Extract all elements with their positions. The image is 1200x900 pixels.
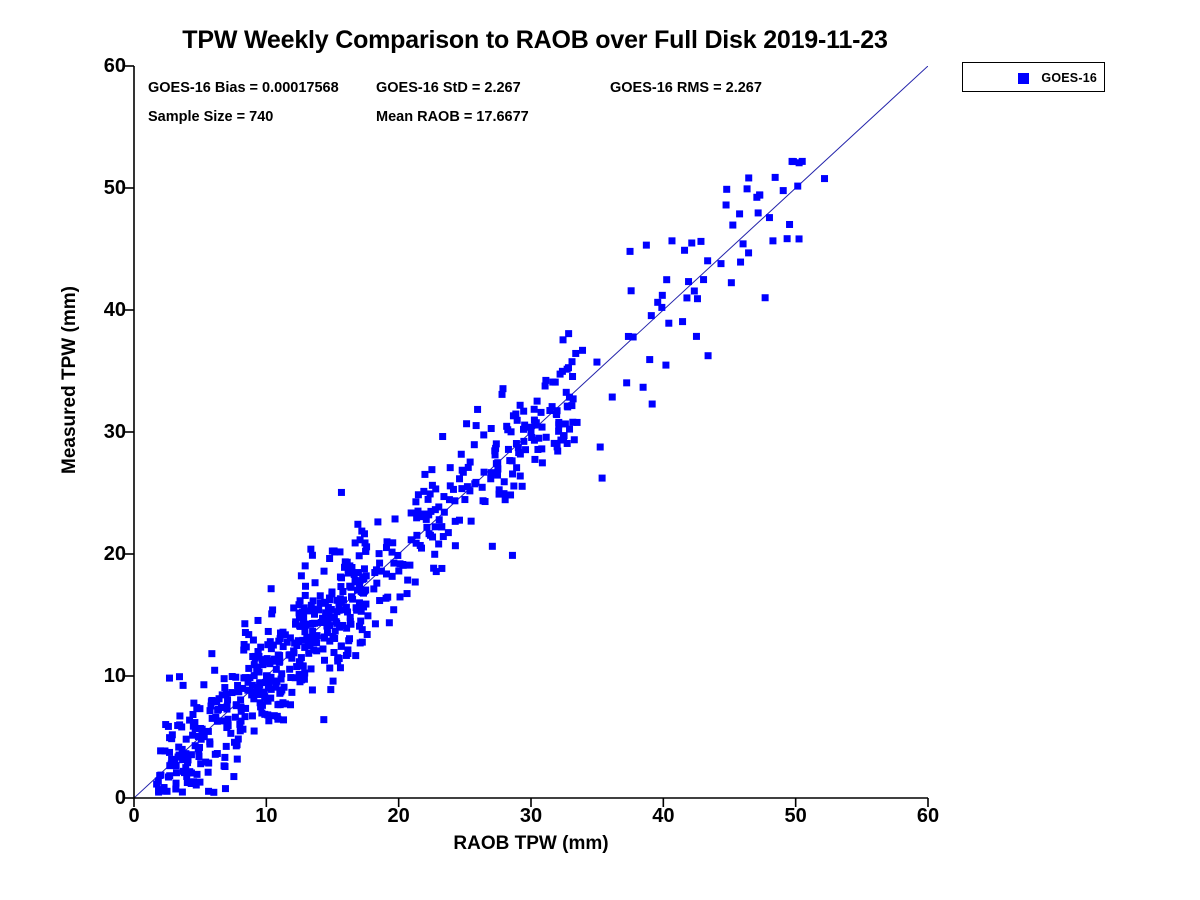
data-point-marker (466, 487, 473, 494)
data-point-marker (539, 459, 546, 466)
data-point-marker (257, 703, 264, 710)
data-point-marker (481, 469, 488, 476)
data-point-marker (321, 617, 328, 624)
data-point-marker (179, 756, 186, 763)
data-point-marker (221, 675, 228, 682)
data-point-marker (679, 318, 686, 325)
data-point-marker (277, 635, 284, 642)
data-point-marker (205, 769, 212, 776)
data-point-marker (179, 789, 186, 796)
data-point-marker (517, 473, 524, 480)
data-point-marker (166, 734, 173, 741)
data-point-marker (346, 635, 353, 642)
data-point-marker (212, 751, 219, 758)
data-point-marker (271, 656, 278, 663)
data-point-marker (796, 235, 803, 242)
data-point-marker (222, 785, 229, 792)
data-point-marker (563, 389, 570, 396)
chart-legend[interactable]: GOES-16 (962, 62, 1105, 92)
data-point-marker (321, 568, 328, 575)
data-point-marker (373, 580, 380, 587)
data-point-marker (534, 398, 541, 405)
data-point-marker (452, 518, 459, 525)
data-point-marker (480, 431, 487, 438)
data-point-marker (412, 579, 419, 586)
data-point-marker (255, 617, 262, 624)
data-point-marker (564, 403, 571, 410)
data-point-marker (423, 524, 430, 531)
data-point-marker (197, 760, 204, 767)
data-point-marker (705, 352, 712, 359)
data-point-marker (421, 471, 428, 478)
data-point-marker (392, 515, 399, 522)
data-point-marker (794, 183, 801, 190)
data-point-marker (206, 741, 213, 748)
x-tick-label: 50 (766, 806, 826, 826)
data-point-marker (597, 444, 604, 451)
data-point-marker (200, 681, 207, 688)
data-point-marker (522, 446, 529, 453)
data-point-marker (474, 406, 481, 413)
data-point-marker (649, 401, 656, 408)
data-point-marker (510, 483, 517, 490)
data-point-marker (360, 575, 367, 582)
data-point-marker (784, 235, 791, 242)
chart-title: TPW Weekly Comparison to RAOB over Full … (0, 26, 1070, 55)
data-point-marker (190, 723, 197, 730)
data-point-marker (683, 294, 690, 301)
data-point-marker (520, 408, 527, 415)
x-axis-tick-labels: 0102030405060 (134, 806, 928, 836)
data-point-marker (330, 649, 337, 656)
data-point-marker (330, 678, 337, 685)
y-tick-label: 20 (86, 544, 126, 564)
data-point-marker (396, 560, 403, 567)
data-point-marker (190, 700, 197, 707)
data-point-marker (789, 158, 796, 165)
data-point-marker (717, 260, 724, 267)
data-point-marker (157, 772, 164, 779)
x-tick-label: 0 (104, 806, 164, 826)
data-point-marker (376, 597, 383, 604)
data-point-marker (211, 667, 218, 674)
data-point-marker (501, 478, 508, 485)
data-point-marker (623, 379, 630, 386)
data-point-marker (404, 590, 411, 597)
data-point-marker (534, 446, 541, 453)
data-point-marker (745, 249, 752, 256)
data-point-marker (256, 679, 263, 686)
data-point-marker (538, 409, 545, 416)
data-point-marker (493, 460, 500, 467)
data-point-marker (527, 428, 534, 435)
data-point-marker (415, 508, 422, 515)
data-point-marker (539, 424, 546, 431)
data-point-marker (456, 475, 463, 482)
data-point-marker (195, 753, 202, 760)
data-point-marker (218, 717, 225, 724)
data-point-marker (420, 488, 427, 495)
data-point-marker (356, 623, 363, 630)
data-point-marker (435, 503, 442, 510)
data-point-marker (168, 761, 175, 768)
data-point-marker (287, 674, 294, 681)
data-point-marker (327, 614, 334, 621)
mean-raob-stat-label: Mean RAOB = 17.6677 (376, 109, 529, 125)
data-point-marker (327, 686, 334, 693)
std-stat-label: GOES-16 StD = 2.267 (376, 80, 521, 96)
data-point-marker (697, 238, 704, 245)
data-point-marker (293, 642, 300, 649)
data-point-marker (310, 597, 317, 604)
data-point-marker (223, 706, 230, 713)
data-point-marker (479, 484, 486, 491)
data-point-marker (468, 518, 475, 525)
data-point-marker (560, 336, 567, 343)
data-point-marker (609, 394, 616, 401)
data-point-marker (579, 347, 586, 354)
data-point-marker (555, 421, 562, 428)
data-point-marker (356, 552, 363, 559)
data-point-marker (265, 684, 272, 691)
data-point-marker (221, 762, 228, 769)
data-point-marker (280, 629, 287, 636)
data-point-marker (693, 333, 700, 340)
data-point-marker (348, 593, 355, 600)
data-point-marker (740, 240, 747, 247)
data-point-marker (557, 437, 564, 444)
data-point-marker (472, 479, 479, 486)
data-point-marker (821, 175, 828, 182)
data-point-marker (241, 620, 248, 627)
y-tick-label: 60 (86, 56, 126, 76)
x-tick-label: 20 (369, 806, 429, 826)
data-point-marker (737, 259, 744, 266)
data-point-marker (245, 631, 252, 638)
data-point-marker (332, 628, 339, 635)
data-point-marker (328, 588, 335, 595)
data-point-marker (691, 287, 698, 294)
data-point-marker (239, 726, 246, 733)
data-point-marker (384, 594, 391, 601)
scatter-plot-svg (134, 66, 928, 798)
data-point-marker (309, 552, 316, 559)
data-point-marker (319, 645, 326, 652)
data-point-marker (234, 682, 241, 689)
data-point-marker (362, 539, 369, 546)
data-point-marker (662, 362, 669, 369)
data-point-marker (520, 438, 527, 445)
data-point-marker (192, 742, 199, 749)
data-point-marker (352, 578, 359, 585)
data-point-marker (599, 475, 606, 482)
x-tick-label: 30 (501, 806, 561, 826)
data-point-marker (428, 466, 435, 473)
data-point-marker (205, 760, 212, 767)
data-point-marker (286, 666, 293, 673)
data-point-marker (208, 697, 215, 704)
data-point-marker (166, 675, 173, 682)
data-point-marker (488, 469, 495, 476)
data-point-marker (297, 597, 304, 604)
data-point-marker (314, 632, 321, 639)
data-point-marker (176, 712, 183, 719)
data-point-marker (259, 656, 266, 663)
data-point-marker (233, 702, 240, 709)
data-point-marker (488, 425, 495, 432)
data-point-marker (514, 417, 521, 424)
data-point-marker (493, 440, 500, 447)
data-point-marker (574, 419, 581, 426)
data-point-marker (648, 312, 655, 319)
x-tick-label: 40 (633, 806, 693, 826)
data-point-marker (627, 248, 634, 255)
data-point-marker (436, 516, 443, 523)
data-point-marker (208, 650, 215, 657)
data-point-marker (265, 628, 272, 635)
data-point-marker (306, 638, 313, 645)
data-point-marker (176, 673, 183, 680)
x-axis-title: RAOB TPW (mm) (134, 833, 928, 855)
data-point-marker (333, 620, 340, 627)
data-point-marker (509, 470, 516, 477)
data-point-marker (256, 669, 263, 676)
data-point-marker (278, 676, 285, 683)
data-point-marker (315, 606, 322, 613)
data-point-marker (406, 562, 413, 569)
data-point-marker (557, 371, 564, 378)
data-point-marker (173, 780, 180, 787)
data-point-marker (240, 647, 247, 654)
data-point-marker (221, 684, 228, 691)
data-point-marker (298, 676, 305, 683)
data-point-marker (344, 559, 351, 566)
data-point-marker (499, 385, 506, 392)
data-point-marker (395, 568, 402, 575)
data-point-marker (646, 356, 653, 363)
data-point-marker (515, 449, 522, 456)
data-point-marker (331, 548, 338, 555)
data-point-marker (301, 670, 308, 677)
y-tick-label: 10 (86, 666, 126, 686)
data-point-marker (180, 682, 187, 689)
data-point-marker (446, 496, 453, 503)
data-point-marker (554, 407, 561, 414)
data-point-marker (343, 625, 350, 632)
data-point-marker (531, 456, 538, 463)
data-point-marker (252, 655, 259, 662)
data-point-marker (358, 608, 365, 615)
data-point-marker (223, 724, 230, 731)
data-point-marker (438, 523, 445, 530)
data-point-marker (361, 530, 368, 537)
data-point-marker (296, 622, 303, 629)
data-point-marker (688, 239, 695, 246)
data-point-marker (551, 440, 558, 447)
data-point-marker (343, 604, 350, 611)
data-point-marker (723, 201, 730, 208)
y-tick-label: 50 (86, 178, 126, 198)
data-point-marker (458, 485, 465, 492)
data-point-marker (157, 788, 164, 795)
data-point-marker (630, 333, 637, 340)
data-point-marker (383, 544, 390, 551)
data-point-marker (157, 747, 164, 754)
data-point-marker (489, 543, 496, 550)
data-point-marker (328, 606, 335, 613)
data-point-marker (234, 756, 241, 763)
data-point-marker (762, 294, 769, 301)
data-point-marker (338, 643, 345, 650)
data-point-marker (337, 583, 344, 590)
data-point-marker (196, 705, 203, 712)
data-point-marker (571, 436, 578, 443)
data-point-marker (287, 634, 294, 641)
data-point-marker (244, 687, 251, 694)
data-point-marker (308, 665, 315, 672)
data-point-marker (431, 551, 438, 558)
data-point-marker (772, 174, 779, 181)
data-point-marker (251, 661, 258, 668)
data-point-marker (554, 448, 561, 455)
data-point-marker (628, 287, 635, 294)
data-point-marker (312, 579, 319, 586)
data-point-marker (700, 276, 707, 283)
data-point-marker (452, 542, 459, 549)
data-point-marker (250, 695, 257, 702)
data-point-marker (311, 620, 318, 627)
data-point-marker (427, 508, 434, 515)
data-point-marker (362, 548, 369, 555)
data-point-marker (273, 666, 280, 673)
x-tick-label: 60 (898, 806, 958, 826)
data-point-marker (166, 772, 173, 779)
plot-area[interactable] (134, 66, 928, 798)
data-point-marker (531, 406, 538, 413)
data-point-marker (321, 657, 328, 664)
data-point-marker (286, 651, 293, 658)
data-point-marker (162, 721, 169, 728)
data-point-marker (310, 647, 317, 654)
data-point-marker (658, 304, 665, 311)
data-point-marker (504, 426, 511, 433)
data-point-marker (471, 441, 478, 448)
data-point-marker (196, 779, 203, 786)
data-point-marker (429, 482, 436, 489)
data-point-marker (465, 464, 472, 471)
bias-stat-label: GOES-16 Bias = 0.00017568 (148, 80, 339, 96)
data-point-marker (565, 330, 572, 337)
data-point-marker (373, 566, 380, 573)
data-point-marker (264, 711, 271, 718)
data-point-markers (153, 158, 828, 796)
data-point-marker (234, 741, 241, 748)
data-point-marker (723, 186, 730, 193)
data-point-marker (190, 778, 197, 785)
data-point-marker (376, 560, 383, 567)
data-point-marker (593, 359, 600, 366)
data-point-marker (251, 728, 258, 735)
data-point-marker (320, 716, 327, 723)
data-point-marker (736, 210, 743, 217)
data-point-marker (299, 662, 306, 669)
data-point-marker (659, 292, 666, 299)
data-point-marker (492, 451, 499, 458)
data-point-marker (780, 187, 787, 194)
data-point-marker (153, 781, 160, 788)
data-point-marker (505, 446, 512, 453)
data-point-marker (513, 464, 520, 471)
data-point-marker (450, 486, 457, 493)
data-point-marker (458, 451, 465, 458)
data-point-marker (274, 713, 281, 720)
data-point-marker (482, 498, 489, 505)
data-point-marker (254, 648, 261, 655)
chart-figure: TPW Weekly Comparison to RAOB over Full … (0, 0, 1200, 900)
data-point-marker (346, 583, 353, 590)
data-point-marker (198, 736, 205, 743)
data-point-marker (179, 746, 186, 753)
data-point-marker (184, 779, 191, 786)
data-point-marker (221, 754, 228, 761)
data-point-marker (337, 664, 344, 671)
data-point-marker (729, 222, 736, 229)
data-point-marker (354, 521, 361, 528)
data-point-marker (302, 583, 309, 590)
data-point-marker (668, 237, 675, 244)
data-point-marker (569, 373, 576, 380)
y-tick-label: 30 (86, 422, 126, 442)
data-point-marker (338, 489, 345, 496)
data-point-marker (307, 546, 314, 553)
statistics-annotations: GOES-16 Bias = 0.00017568 GOES-16 StD = … (148, 80, 888, 136)
data-point-marker (681, 247, 688, 254)
data-point-marker (766, 214, 773, 221)
data-point-marker (376, 550, 383, 557)
data-point-marker (569, 358, 576, 365)
data-point-marker (386, 619, 393, 626)
data-point-marker (267, 675, 274, 682)
data-point-marker (352, 652, 359, 659)
data-point-marker (225, 716, 232, 723)
data-point-marker (640, 384, 647, 391)
data-point-marker (572, 350, 579, 357)
data-point-marker (694, 295, 701, 302)
data-point-marker (663, 276, 670, 283)
data-point-marker (408, 509, 415, 516)
data-point-marker (704, 257, 711, 264)
y-axis-tick-labels: 0102030405060 (74, 66, 126, 798)
data-point-marker (413, 532, 420, 539)
data-point-marker (506, 457, 513, 464)
data-point-marker (309, 686, 316, 693)
data-point-marker (264, 641, 271, 648)
data-point-marker (317, 592, 324, 599)
data-point-marker (397, 593, 404, 600)
data-point-marker (543, 434, 550, 441)
data-point-marker (755, 209, 762, 216)
data-point-marker (769, 237, 776, 244)
sample-size-stat-label: Sample Size = 740 (148, 109, 273, 125)
data-point-marker (390, 560, 397, 567)
data-point-marker (276, 690, 283, 697)
data-point-marker (351, 571, 358, 578)
data-point-marker (463, 420, 470, 427)
data-point-marker (181, 769, 188, 776)
data-point-marker (509, 552, 516, 559)
data-point-marker (786, 221, 793, 228)
data-point-marker (300, 616, 307, 623)
